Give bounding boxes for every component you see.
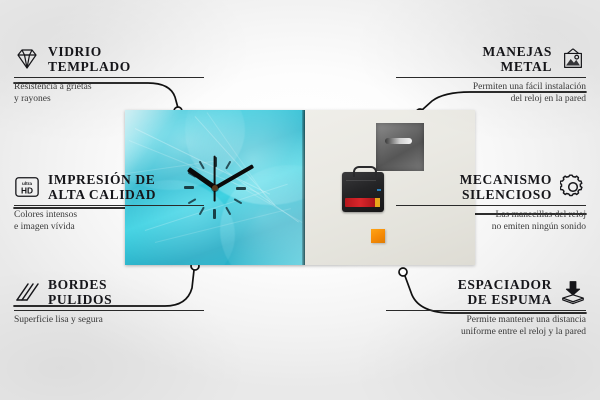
feature-title-line1: VIDRIO	[48, 44, 131, 59]
diamond-icon	[14, 46, 40, 72]
mechanism-hook	[353, 166, 377, 177]
feature-title-line2: PULIDOS	[48, 292, 112, 307]
feature-vidrio-templado: VIDRIO TEMPLADO Resistencia a grietas y …	[14, 44, 204, 105]
feature-rule	[14, 77, 204, 78]
feature-bordes-pulidos: BORDES PULIDOS Superficie lisa y segura	[14, 277, 204, 327]
infographic-canvas: VIDRIO TEMPLADO Resistencia a grietas y …	[0, 0, 600, 400]
svg-text:HD: HD	[21, 186, 33, 196]
feature-espaciador-espuma: ESPACIADOR DE ESPUMA Permite mantener un…	[386, 277, 586, 338]
clock-second-hand	[214, 155, 216, 201]
feature-rule	[396, 77, 586, 78]
feature-desc-line2: del reloj en la pared	[396, 94, 586, 106]
feature-impresion-alta-calidad: ultra HD IMPRESIÓN DE ALTA CALIDAD Color…	[14, 172, 204, 233]
feature-mecanismo-silencioso: MECANISMO SILENCIOSO Las manecillas del …	[396, 172, 586, 233]
quartz-mechanism	[342, 172, 384, 212]
clock-center-cap	[212, 185, 218, 191]
feature-title-line1: BORDES	[48, 277, 112, 292]
feature-title-line1: MECANISMO	[460, 172, 552, 187]
foam-spacer-arrow-icon	[560, 279, 586, 305]
feature-desc-line2: no emiten ningún sonido	[396, 222, 586, 234]
feature-desc-line1: Las manecillas del reloj	[396, 210, 586, 222]
battery	[345, 198, 379, 207]
feature-title-line2: ALTA CALIDAD	[48, 187, 156, 202]
polished-edges-icon	[14, 279, 40, 305]
foam-spacer	[371, 229, 385, 243]
feature-title-line2: METAL	[483, 59, 552, 74]
feature-title-line1: IMPRESIÓN DE	[48, 172, 156, 187]
ultra-hd-badge-icon: ultra HD	[14, 174, 40, 200]
feature-rule	[386, 310, 586, 311]
feature-title-line2: DE ESPUMA	[458, 292, 552, 307]
feature-rule	[14, 310, 204, 311]
feature-title-line1: MANEJAS	[483, 44, 552, 59]
hanger-slot	[385, 138, 412, 144]
gear-icon	[560, 174, 586, 200]
picture-frame-hanger-icon	[560, 46, 586, 72]
metal-hanger-plate	[376, 123, 424, 171]
feature-desc-line1: Resistencia a grietas	[14, 82, 204, 94]
feature-title-line1: ESPACIADOR	[458, 277, 552, 292]
feature-desc-line1: Permiten una fácil instalación	[396, 82, 586, 94]
feature-desc-line1: Colores intensos	[14, 210, 204, 222]
feature-rule	[14, 205, 204, 206]
feature-desc-line2: e imagen vívida	[14, 222, 204, 234]
feature-desc-line1: Superficie lisa y segura	[14, 315, 204, 327]
feature-manejas-metal: MANEJAS METAL Permiten una fácil instala…	[396, 44, 586, 105]
feature-desc-line2: uniforme entre el reloj y la pared	[386, 327, 586, 339]
feature-rule	[396, 205, 586, 206]
feature-desc-line1: Permite mantener una distancia	[386, 315, 586, 327]
feature-desc-line2: y rayones	[14, 94, 204, 106]
feature-title-line2: TEMPLADO	[48, 59, 131, 74]
feature-title-line2: SILENCIOSO	[460, 187, 552, 202]
